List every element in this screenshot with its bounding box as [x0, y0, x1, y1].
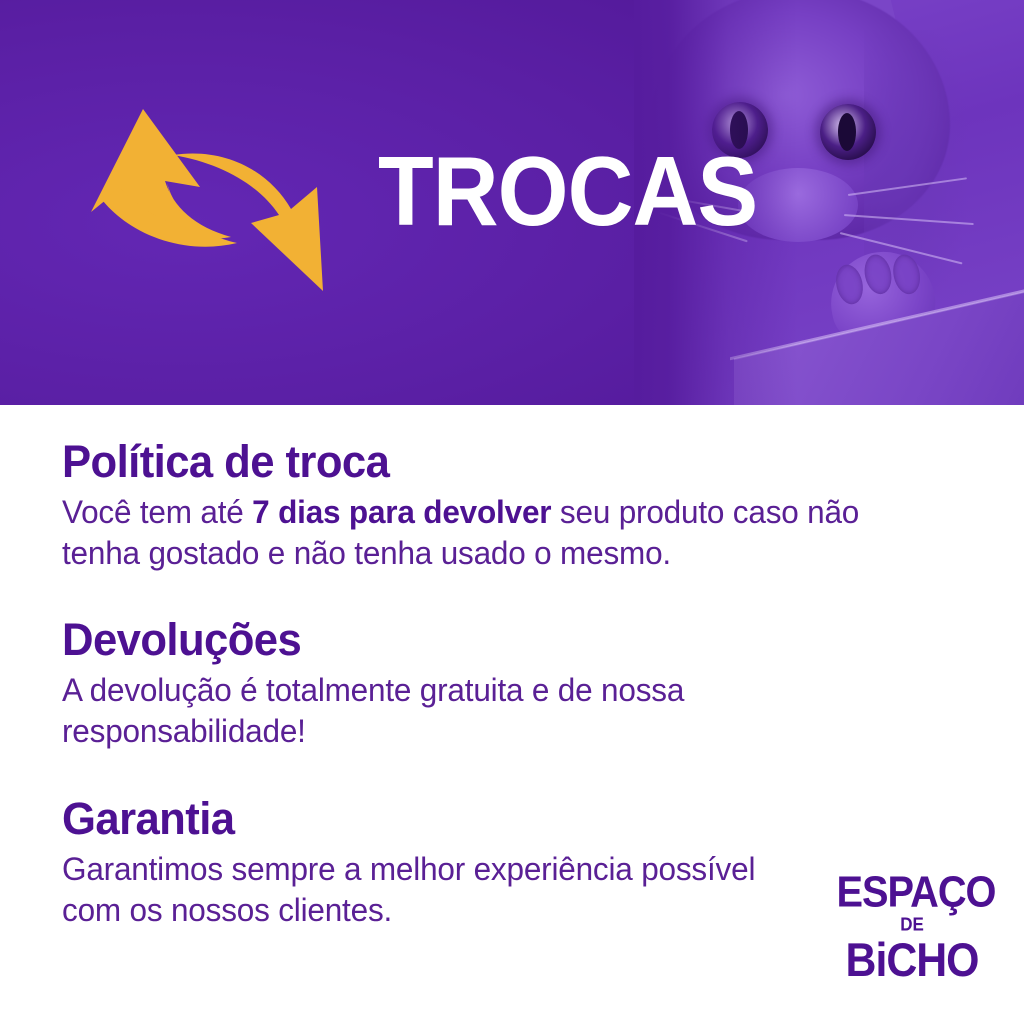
section-devolucoes: Devoluções A devolução é totalmente grat…: [62, 616, 962, 752]
hero-banner: TROCAS: [0, 0, 1024, 405]
section-title: Política de troca: [62, 438, 935, 486]
section-body-part: Você tem até: [62, 494, 252, 530]
brand-logo: ESPAÇO DE BiCHO: [838, 872, 986, 977]
brand-logo-line-de: DE: [838, 915, 986, 934]
banner-title: TROCAS: [378, 142, 757, 240]
exchange-arrows-icon: [55, 95, 345, 295]
section-body: Garantimos sempre a melhor experiência p…: [62, 849, 771, 931]
section-body: Você tem até 7 dias para devolver seu pr…: [62, 492, 929, 574]
section-garantia: Garantia Garantimos sempre a melhor expe…: [62, 795, 962, 931]
section-title: Garantia: [62, 795, 935, 843]
section-body: A devolução é totalmente gratuita e de n…: [62, 670, 929, 752]
brand-logo-line-espaco: ESPAÇO: [837, 872, 988, 913]
section-body-highlight: 7 dias para devolver: [252, 494, 551, 530]
promo-card: TROCAS Política de troca Você tem até 7 …: [0, 0, 1024, 1024]
brand-logo-line-bicho: BiCHO: [837, 938, 988, 983]
section-politica-de-troca: Política de troca Você tem até 7 dias pa…: [62, 438, 962, 574]
section-title: Devoluções: [62, 616, 935, 664]
